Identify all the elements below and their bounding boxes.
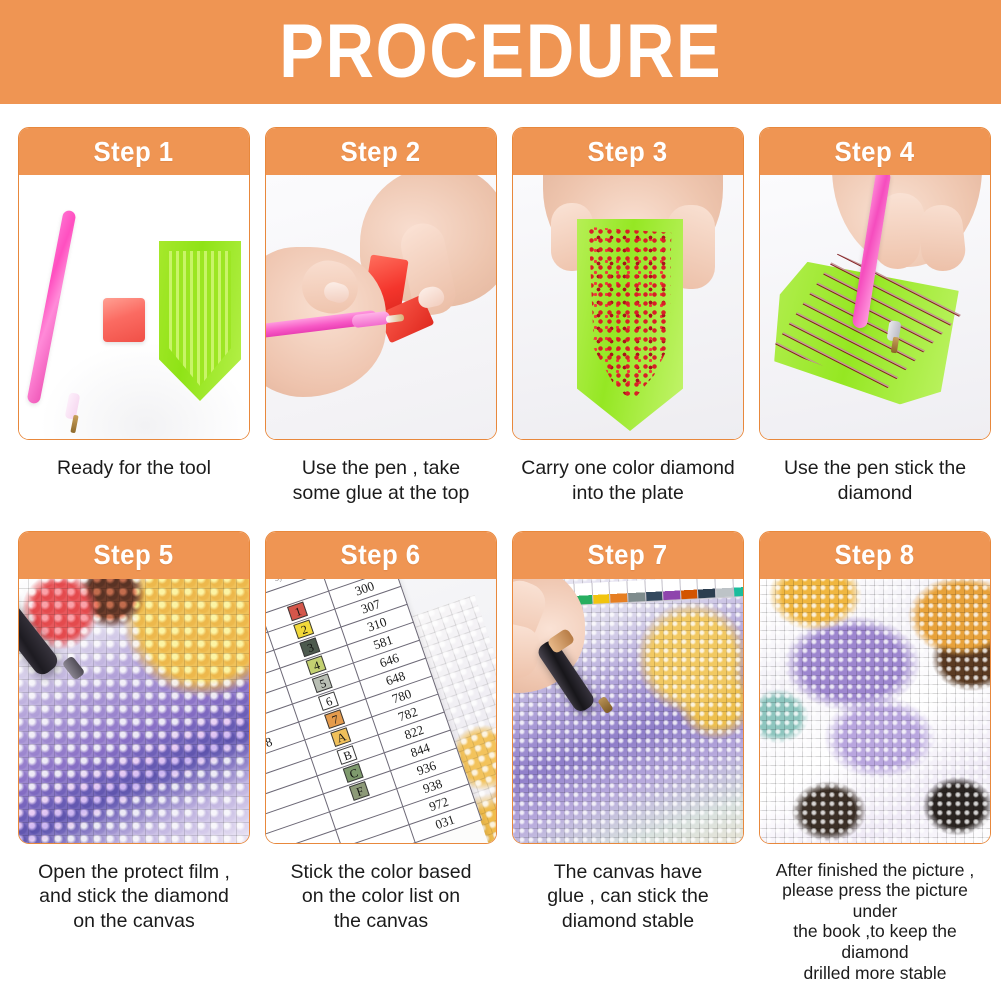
step-card-1-frame: Step 1 bbox=[18, 127, 250, 440]
step-card-5-frame: Step 5 bbox=[18, 531, 250, 844]
step-3-caption: Carry one color diamond into the plate bbox=[512, 456, 744, 506]
diamond-painting-tool-kit-photo bbox=[19, 175, 249, 439]
symbol-swatch: A bbox=[331, 727, 352, 747]
step-2-header: Step 2 bbox=[266, 128, 496, 175]
step-4-header: Step 4 bbox=[760, 128, 990, 175]
legend-swatch bbox=[627, 580, 646, 602]
legend-swatch bbox=[645, 579, 664, 601]
symbol-swatch: 7 bbox=[325, 709, 346, 729]
step-6-header: Step 6 bbox=[266, 532, 496, 579]
step-6-caption: Stick the color based on the color list … bbox=[265, 860, 497, 934]
bead-grid-layer bbox=[760, 579, 990, 843]
legend-swatch bbox=[715, 579, 734, 597]
step-card-6-frame: Step 6 Serial Symbol bbox=[265, 531, 497, 844]
hand-green-plate-red-diamonds-photo bbox=[513, 175, 743, 439]
step-card-8: Step 8 After finished the picture , plea… bbox=[759, 531, 991, 984]
glue-pad-shape bbox=[103, 298, 145, 342]
step-7-caption: The canvas have glue , can stick the dia… bbox=[512, 860, 744, 934]
symbol-swatch: 1 bbox=[287, 601, 308, 621]
finished-diamond-painting-photo bbox=[760, 579, 990, 843]
steps-row-2: Step 5 Open the protect film , and stick… bbox=[18, 531, 983, 984]
legend-swatch bbox=[680, 579, 699, 599]
step-card-7: Step 7 bbox=[512, 531, 744, 984]
step-4-caption: Use the pen stick the diamond bbox=[759, 456, 991, 506]
symbol-swatch: B bbox=[337, 745, 358, 765]
step-card-5: Step 5 Open the protect film , and stick… bbox=[18, 531, 250, 984]
step-card-8-frame: Step 8 bbox=[759, 531, 991, 844]
step-8-body bbox=[760, 579, 990, 843]
steps-grid: Step 1 Ready for the tool bbox=[0, 104, 1001, 983]
step-4-body bbox=[760, 175, 990, 439]
step-1-caption: Ready for the tool bbox=[18, 456, 250, 481]
step-card-4: Step 4 bbox=[759, 127, 991, 506]
step-7-body bbox=[513, 579, 743, 843]
step-2-body bbox=[266, 175, 496, 439]
canvas-beads-with-pen-photo bbox=[19, 579, 249, 843]
steps-row-1: Step 1 Ready for the tool bbox=[18, 127, 983, 506]
step-6-badge: Step 6 bbox=[341, 539, 421, 571]
step-1-header: Step 1 bbox=[19, 128, 249, 175]
hands-pen-glue-photo bbox=[266, 175, 496, 439]
symbol-swatch: 5 bbox=[312, 673, 333, 693]
step-card-3-frame: Step 3 bbox=[512, 127, 744, 440]
step-card-6: Step 6 Serial Symbol bbox=[265, 531, 497, 984]
step-2-caption: Use the pen , take some glue at the top bbox=[265, 456, 497, 506]
symbol-swatch: 3 bbox=[300, 637, 321, 657]
step-5-body bbox=[19, 579, 249, 843]
step-5-header: Step 5 bbox=[19, 532, 249, 579]
legend-swatch bbox=[733, 579, 743, 596]
color-chart-legend-photo: Serial Symbol DMC 1213003230743310545816… bbox=[266, 579, 496, 843]
page-title: PROCEDURE bbox=[279, 14, 722, 90]
step-7-badge: Step 7 bbox=[588, 539, 668, 571]
pink-pen-shape bbox=[26, 210, 76, 405]
step-7-header: Step 7 bbox=[513, 532, 743, 579]
page-title-band: PROCEDURE bbox=[0, 0, 1001, 104]
step-card-1: Step 1 Ready for the tool bbox=[18, 127, 250, 506]
legend-swatch bbox=[663, 579, 682, 600]
step-card-2-frame: Step 2 bbox=[265, 127, 497, 440]
step-card-7-frame: Step 7 bbox=[512, 531, 744, 844]
procedure-infographic: PROCEDURE Step 1 bbox=[0, 0, 1001, 1001]
symbol-swatch: F bbox=[349, 780, 370, 800]
step-1-badge: Step 1 bbox=[94, 136, 174, 168]
symbol-swatch: 6 bbox=[318, 691, 339, 711]
symbol-swatch: C bbox=[343, 763, 364, 783]
step-3-body bbox=[513, 175, 743, 439]
step-5-caption: Open the protect film , and stick the di… bbox=[18, 860, 250, 934]
step-3-header: Step 3 bbox=[513, 128, 743, 175]
step-8-badge: Step 8 bbox=[835, 539, 915, 571]
bead-grid-layer bbox=[19, 579, 249, 843]
step-6-body: Serial Symbol DMC 1213003230743310545816… bbox=[266, 579, 496, 843]
step-1-body bbox=[19, 175, 249, 439]
symbol-swatch: 2 bbox=[294, 619, 315, 639]
step-card-2: Step 2 bbox=[265, 127, 497, 506]
step-5-badge: Step 5 bbox=[94, 539, 174, 571]
hand-pen-on-canvas-photo bbox=[513, 579, 743, 843]
legend-swatch bbox=[610, 581, 629, 603]
legend-swatch bbox=[698, 579, 717, 598]
step-card-3: Step 3 Carry one color diamond into the … bbox=[512, 127, 744, 506]
step-8-header: Step 8 bbox=[760, 532, 990, 579]
step-4-badge: Step 4 bbox=[835, 136, 915, 168]
step-card-4-frame: Step 4 bbox=[759, 127, 991, 440]
step-8-caption: After finished the picture , please pres… bbox=[759, 860, 991, 984]
step-2-badge: Step 2 bbox=[341, 136, 421, 168]
step-3-badge: Step 3 bbox=[588, 136, 668, 168]
legend-swatch bbox=[592, 581, 611, 603]
symbol-swatch: 4 bbox=[306, 655, 327, 675]
pen-picking-diamond-from-tray-photo bbox=[760, 175, 990, 439]
